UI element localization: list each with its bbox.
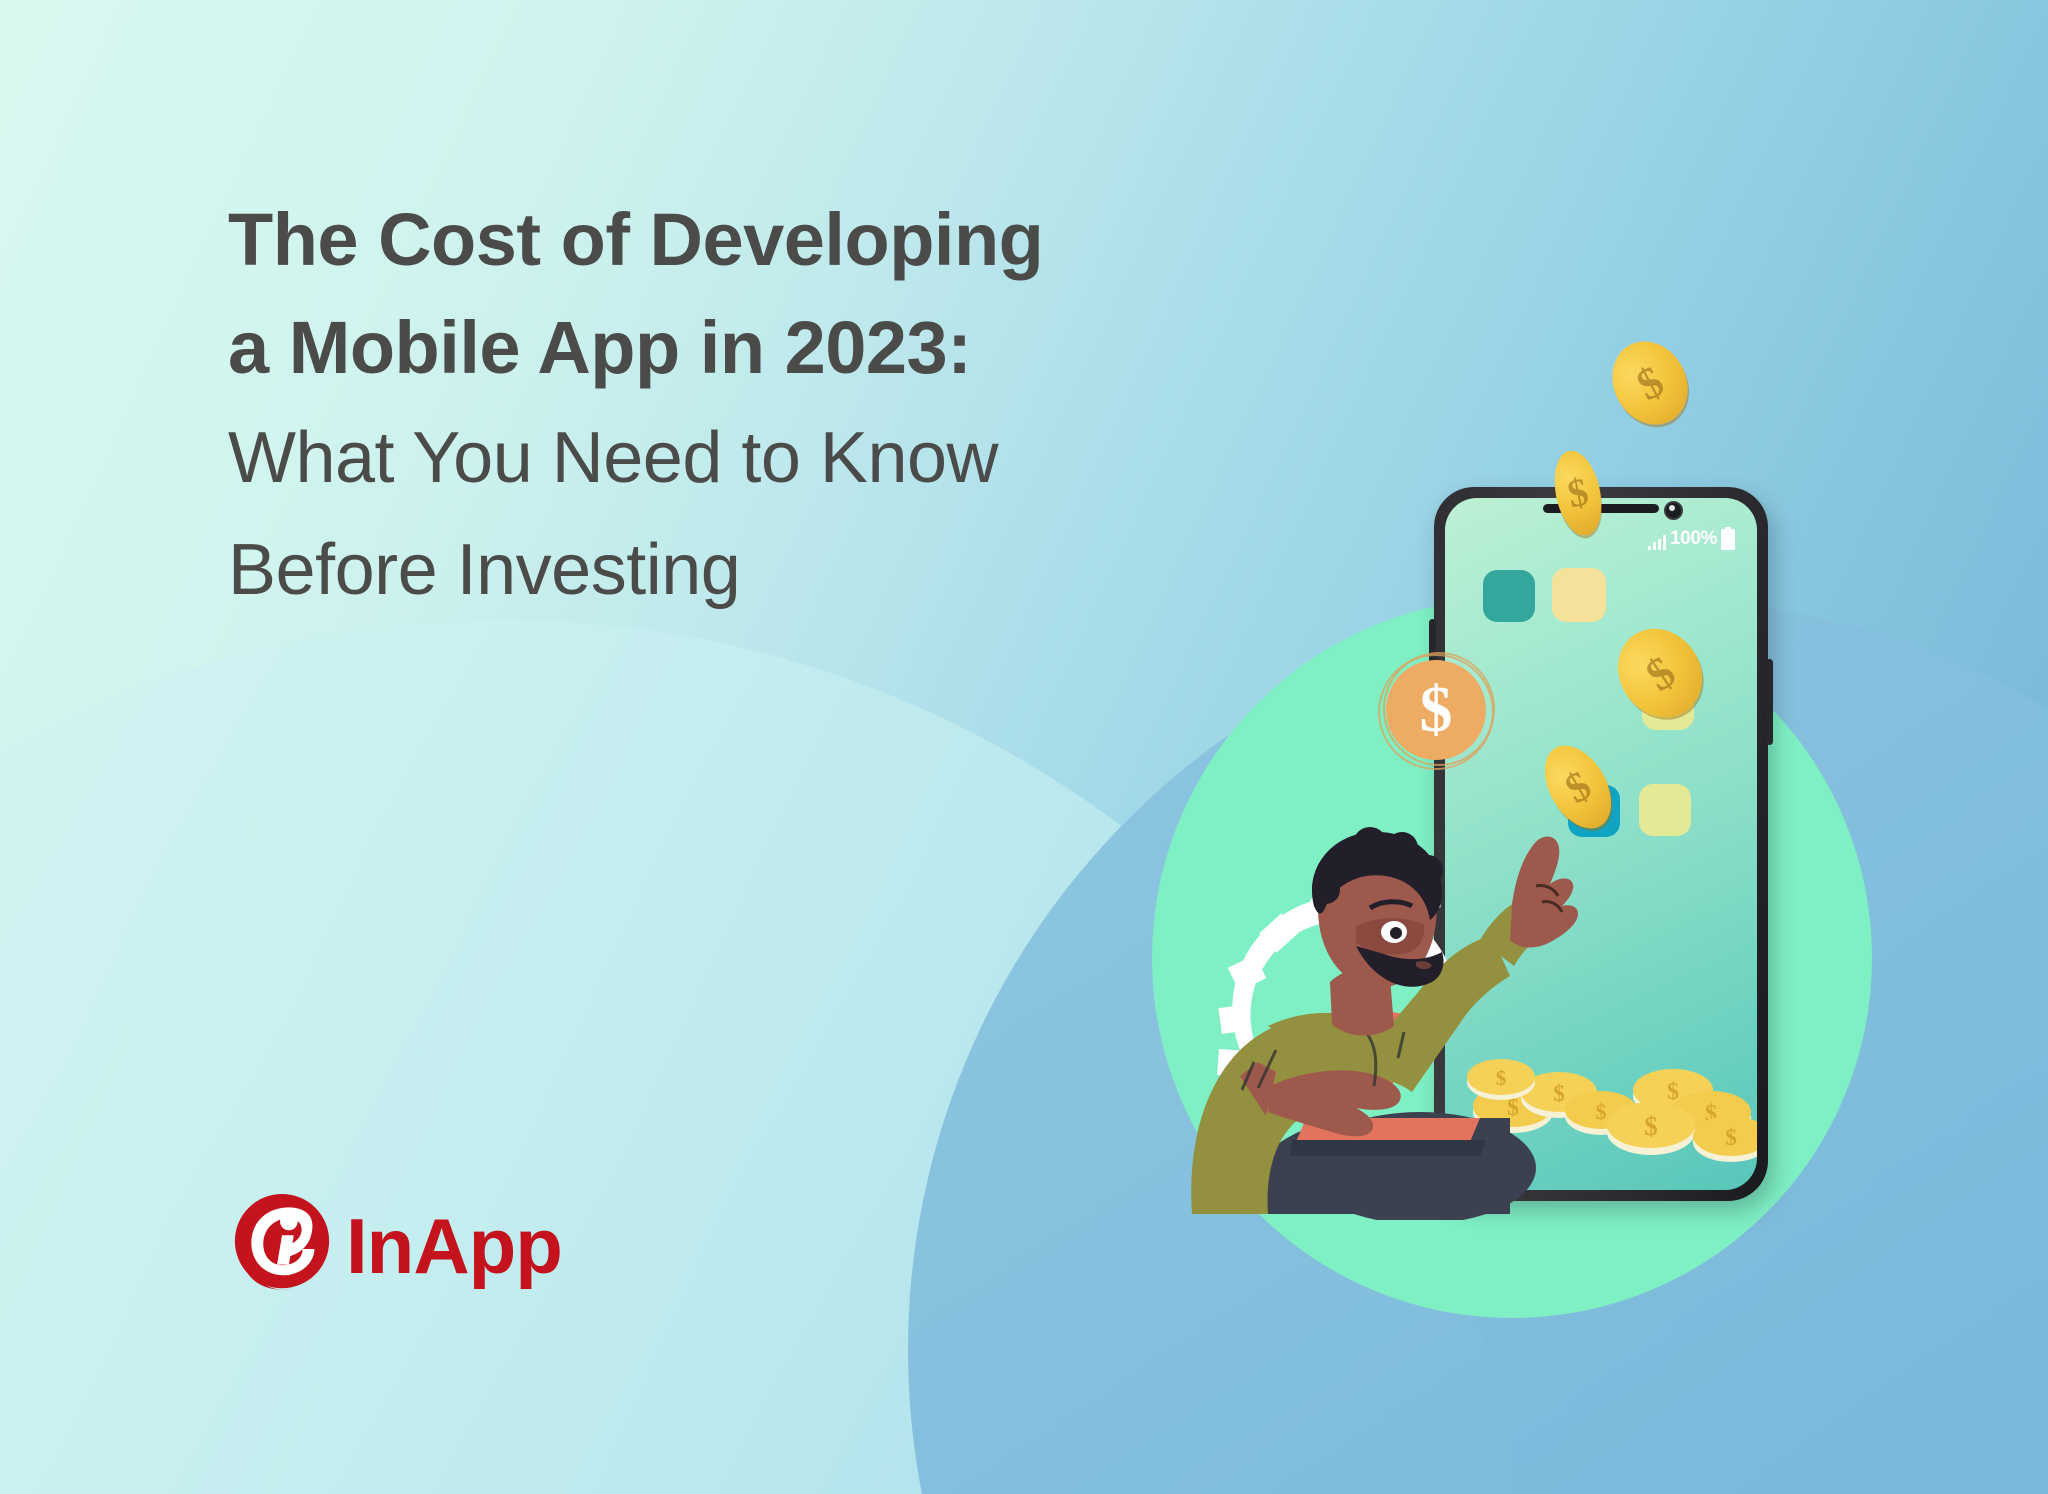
character-hand: [1510, 837, 1578, 948]
front-camera-icon: [1664, 501, 1683, 520]
dollar-sign-icon: $: [1386, 660, 1486, 760]
signal-bars-icon: [1648, 535, 1666, 550]
poster-canvas: The Cost of Developing a Mobile App in 2…: [0, 0, 2048, 1494]
inapp-logo[interactable]: InApp: [228, 1192, 562, 1300]
headline-line-2: a Mobile App in 2023:: [228, 294, 1288, 402]
app-tile-lime-2[interactable]: [1639, 784, 1691, 836]
inapp-logo-text: InApp: [346, 1207, 562, 1285]
headline-line-3: What You Need to Know: [228, 402, 1288, 514]
headline-line-1: The Cost of Developing: [228, 186, 1288, 294]
app-tile-cream[interactable]: [1552, 568, 1606, 622]
app-tile-teal[interactable]: [1483, 570, 1535, 622]
battery-full-icon: [1721, 529, 1735, 550]
phone-status-bar: 100%: [1648, 528, 1735, 550]
page-title: The Cost of Developing a Mobile App in 2…: [228, 186, 1288, 626]
headline-line-4: Before Investing: [228, 514, 1288, 626]
svg-text:$: $: [1644, 1111, 1658, 1141]
phone-power-button[interactable]: [1766, 659, 1773, 745]
dollar-badge: $: [1378, 652, 1494, 768]
inapp-logo-mark-icon: [228, 1192, 336, 1300]
character-illustration: [1180, 800, 1600, 1220]
battery-percent-label: 100%: [1670, 528, 1717, 550]
coin-falling-top: [1598, 328, 1702, 438]
svg-text:$: $: [1725, 1125, 1737, 1150]
